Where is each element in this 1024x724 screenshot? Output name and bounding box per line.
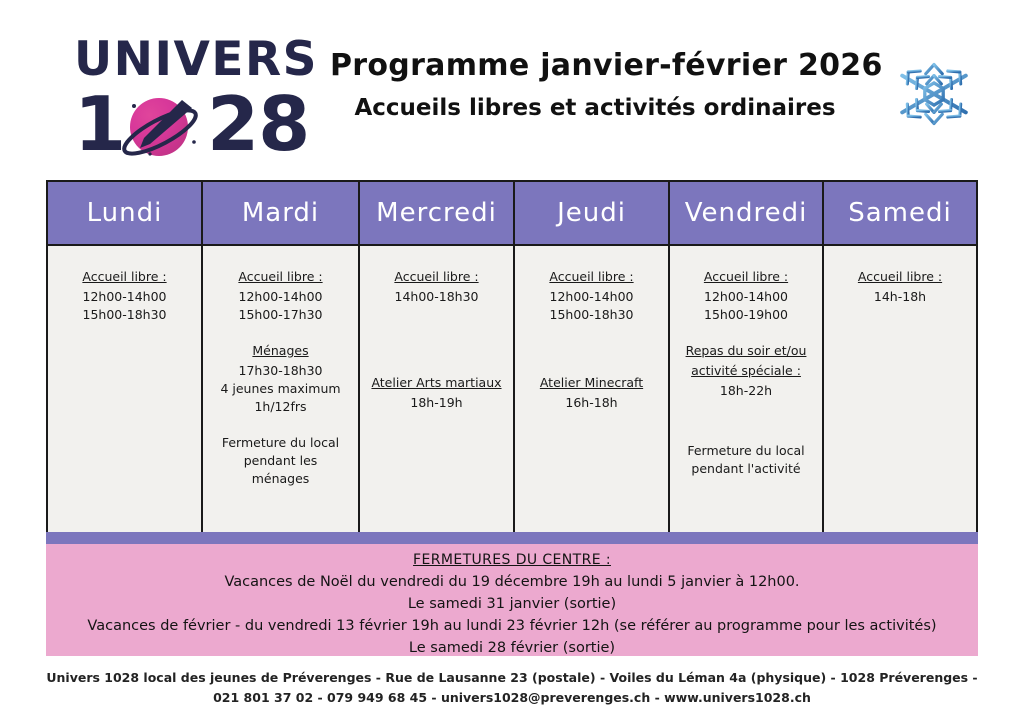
- block-line: 15h00-17h30: [209, 306, 352, 324]
- table-header-row: Lundi Mardi Mercredi Jeudi Vendredi Same…: [48, 182, 976, 244]
- activity-block: Accueil libre : 12h00-14h00 15h00-19h00: [676, 268, 816, 324]
- block-title: Accueil libre :: [209, 268, 352, 286]
- block-title: Accueil libre :: [54, 268, 195, 286]
- block-title: Accueil libre :: [830, 268, 970, 286]
- day-cell-jeudi: Accueil libre : 12h00-14h00 15h00-18h30 …: [515, 246, 670, 532]
- block-title: Accueil libre :: [366, 268, 507, 286]
- day-cell-mercredi: Accueil libre : 14h00-18h30 Atelier Arts…: [360, 246, 515, 532]
- block-title: Ménages: [209, 342, 352, 360]
- block-line: 12h00-14h00: [54, 288, 195, 306]
- day-header-lundi: Lundi: [48, 182, 203, 244]
- logo-digits-28: 28: [207, 88, 309, 160]
- table-body-row: Accueil libre : 12h00-14h00 15h00-18h30 …: [48, 244, 976, 532]
- page-title: Programme janvier-février 2026: [330, 48, 860, 83]
- block-line: 18h-19h: [366, 394, 507, 412]
- footer-contact: 021 801 37 02 - 079 949 68 45 - univers1…: [0, 688, 1024, 708]
- logo-number-row: 1 28: [72, 88, 307, 160]
- block-title: Atelier Minecraft: [521, 374, 662, 392]
- activity-block: Accueil libre : 12h00-14h00 15h00-17h30: [209, 268, 352, 324]
- closures-line: Le samedi 28 février (sortie): [46, 637, 978, 659]
- activity-block: Repas du soir et/ou activité spéciale : …: [676, 342, 816, 400]
- univers-1028-logo: UNIVERS 1 28: [72, 30, 307, 160]
- activity-block: Accueil libre : 12h00-14h00 15h00-18h30: [54, 268, 195, 324]
- block-line: 15h00-19h00: [676, 306, 816, 324]
- footer-address: Univers 1028 local des jeunes de Prévere…: [0, 668, 1024, 688]
- day-header-jeudi: Jeudi: [515, 182, 670, 244]
- block-title: Atelier Arts martiaux: [366, 374, 507, 392]
- day-header-mercredi: Mercredi: [360, 182, 515, 244]
- activity-block: Atelier Arts martiaux 18h-19h: [366, 374, 507, 412]
- rocket-icon: [116, 92, 208, 160]
- day-cell-samedi: Accueil libre : 14h-18h: [824, 246, 976, 532]
- block-line: 12h00-14h00: [676, 288, 816, 306]
- closures-line: Vacances de février - du vendredi 13 fév…: [46, 615, 978, 637]
- day-header-vendredi: Vendredi: [670, 182, 824, 244]
- block-title-2: activité spéciale :: [676, 362, 816, 380]
- block-title: Accueil libre :: [521, 268, 662, 286]
- page-subtitle: Accueils libres et activités ordinaires: [330, 95, 860, 121]
- poster-header: UNIVERS 1 28 Programme janvier-févrie: [0, 0, 1024, 178]
- activity-block: Accueil libre : 12h00-14h00 15h00-18h30: [521, 268, 662, 324]
- day-header-mardi: Mardi: [203, 182, 360, 244]
- logo-wordmark: UNIVERS: [74, 36, 318, 83]
- block-line: pendant l'activité: [676, 460, 816, 478]
- closures-line: Le samedi 31 janvier (sortie): [46, 593, 978, 615]
- schedule-table: Lundi Mardi Mercredi Jeudi Vendredi Same…: [46, 180, 978, 534]
- block-title: Accueil libre :: [676, 268, 816, 286]
- activity-block: Atelier Minecraft 16h-18h: [521, 374, 662, 412]
- day-cell-lundi: Accueil libre : 12h00-14h00 15h00-18h30: [48, 246, 203, 532]
- poster-page: UNIVERS 1 28 Programme janvier-févrie: [0, 0, 1024, 724]
- block-line: 18h-22h: [676, 382, 816, 400]
- activity-block: Ménages 17h30-18h30 4 jeunes maximum 1h/…: [209, 342, 352, 416]
- block-line: 14h00-18h30: [366, 288, 507, 306]
- snowflake-icon: [888, 48, 980, 140]
- day-cell-mardi: Accueil libre : 12h00-14h00 15h00-17h30 …: [203, 246, 360, 532]
- activity-block: Accueil libre : 14h00-18h30: [366, 268, 507, 306]
- block-line: Fermeture du local: [209, 434, 352, 452]
- block-line: Fermeture du local: [676, 442, 816, 460]
- block-line: 15h00-18h30: [54, 306, 195, 324]
- block-line: 17h30-18h30: [209, 362, 352, 380]
- poster-footer: Univers 1028 local des jeunes de Prévere…: [0, 668, 1024, 708]
- block-title: Repas du soir et/ou: [676, 342, 816, 360]
- block-line: 15h00-18h30: [521, 306, 662, 324]
- block-line: ménages: [209, 470, 352, 488]
- block-line: 16h-18h: [521, 394, 662, 412]
- activity-block: Fermeture du local pendant l'activité: [676, 442, 816, 478]
- title-block: Programme janvier-février 2026 Accueils …: [330, 48, 860, 121]
- closures-line: Vacances de Noël du vendredi du 19 décem…: [46, 571, 978, 593]
- block-line: 14h-18h: [830, 288, 970, 306]
- block-line: 1h/12frs: [209, 398, 352, 416]
- block-line: pendant les: [209, 452, 352, 470]
- day-header-samedi: Samedi: [824, 182, 976, 244]
- closures-section: FERMETURES DU CENTRE : Vacances de Noël …: [46, 532, 978, 656]
- activity-block: Accueil libre : 14h-18h: [830, 268, 970, 306]
- block-line: 4 jeunes maximum: [209, 380, 352, 398]
- block-line: 12h00-14h00: [521, 288, 662, 306]
- planet-icon: [116, 92, 208, 160]
- day-cell-vendredi: Accueil libre : 12h00-14h00 15h00-19h00 …: [670, 246, 824, 532]
- closures-title: FERMETURES DU CENTRE :: [46, 552, 978, 568]
- activity-block: Fermeture du local pendant les ménages: [209, 434, 352, 488]
- block-line: 12h00-14h00: [209, 288, 352, 306]
